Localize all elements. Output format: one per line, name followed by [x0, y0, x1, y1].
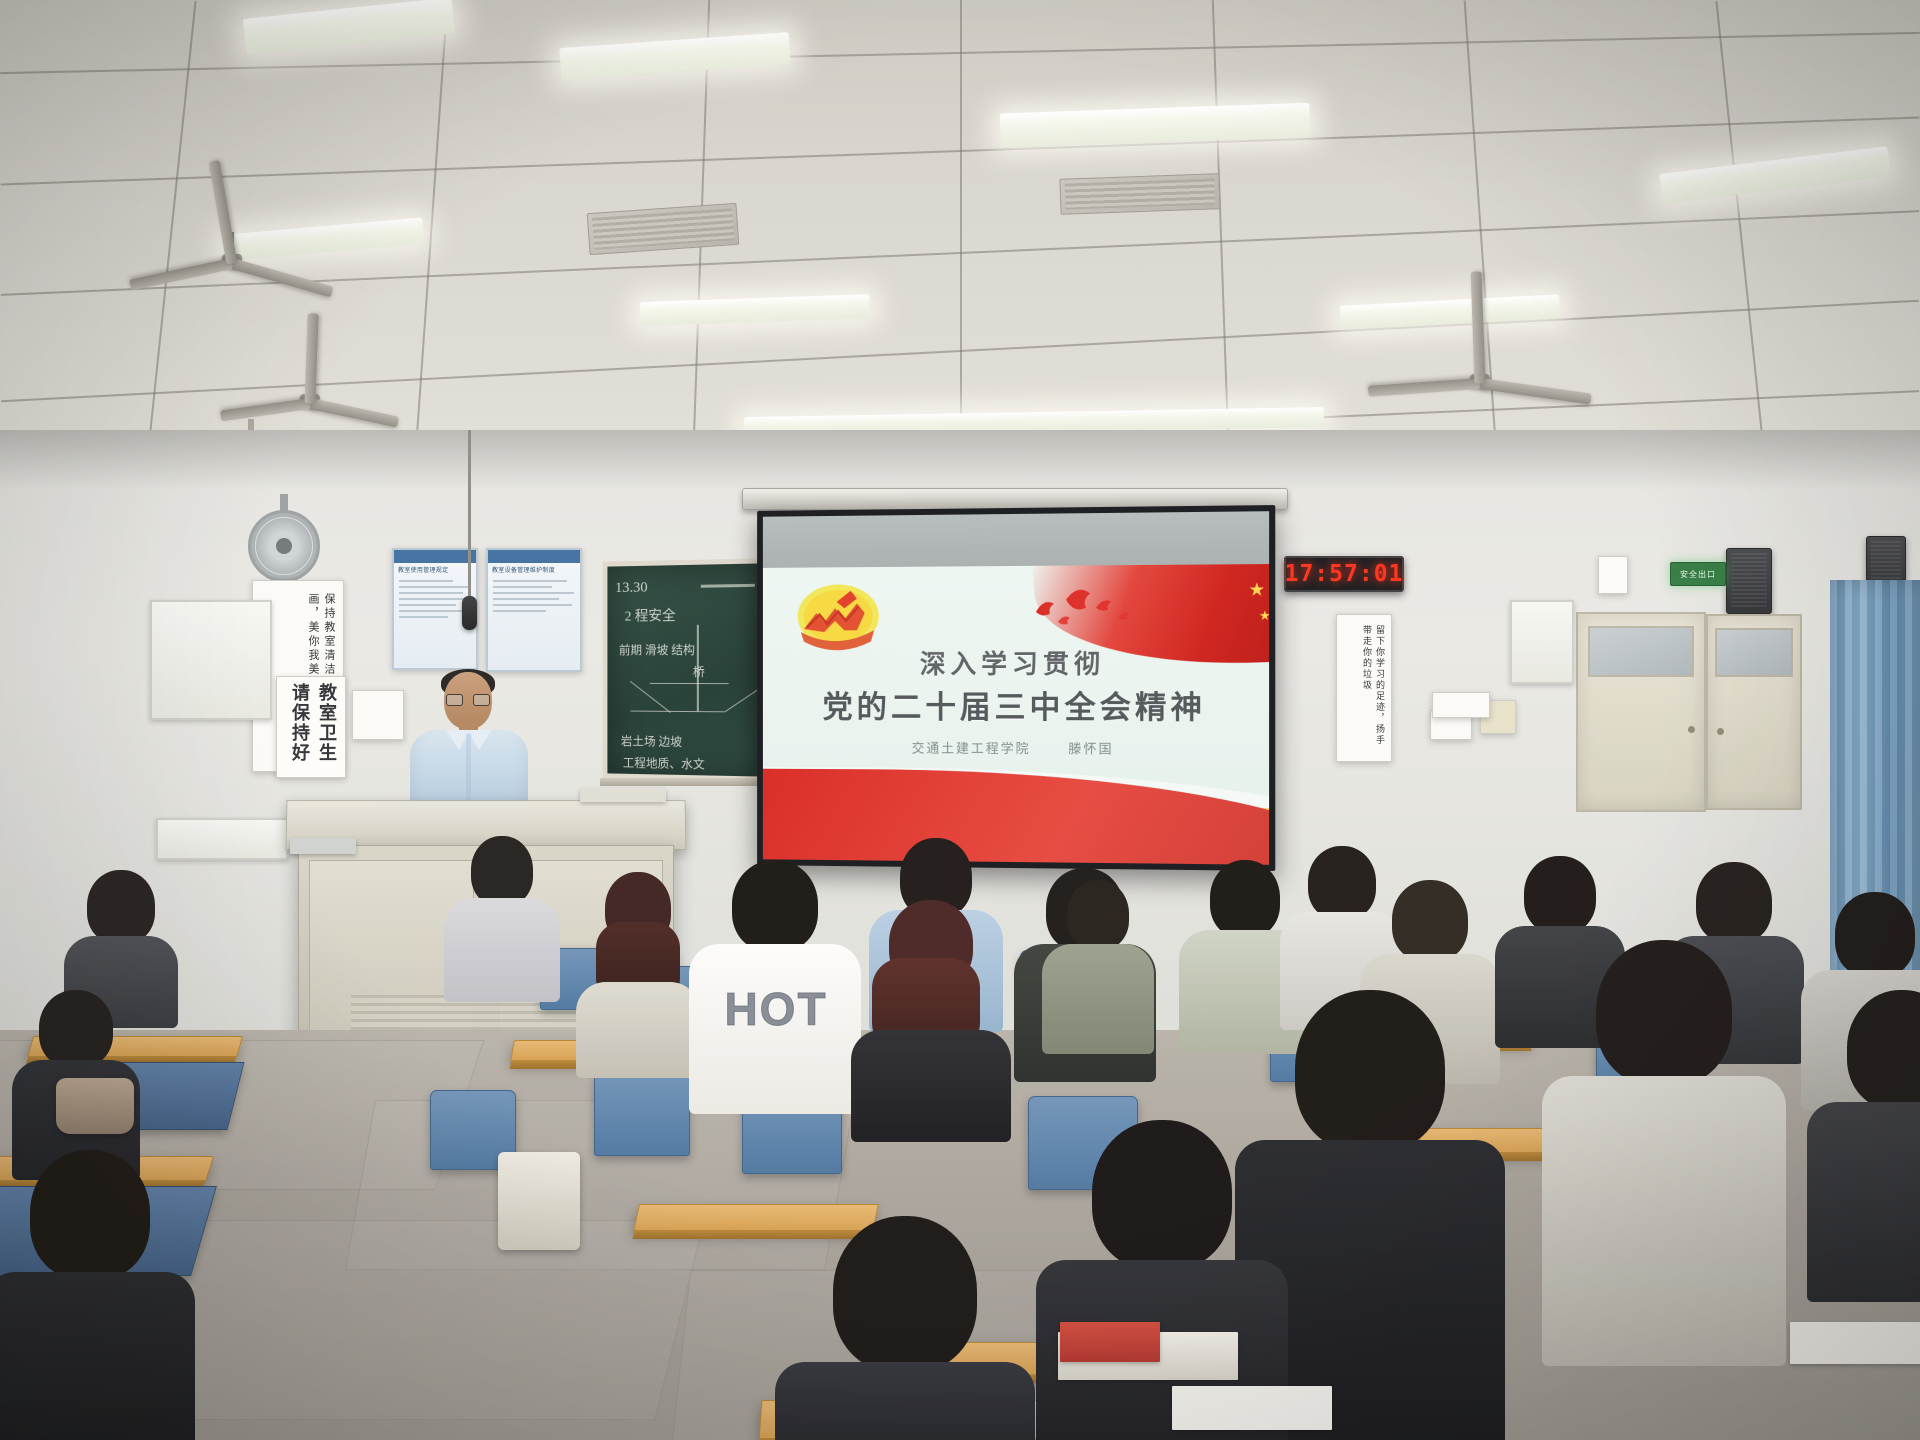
chalk-text: 2 程安全: [625, 605, 676, 625]
ceiling: [0, 0, 1920, 470]
wall-fan: [248, 510, 320, 582]
tshirt-graphic-text: HOT: [724, 982, 827, 1036]
book-on-desk: [1060, 1322, 1160, 1362]
podium-monitor: [290, 838, 356, 854]
blackboard: 13.30 2 程安全 前期 滑坡 结构 桥 岩土场 边坡 工程地质、水文: [603, 558, 770, 782]
air-vent: [1059, 173, 1220, 215]
poster-calligraphy-right: 留下你学习的足迹，扬手带走你的垃圾: [1336, 614, 1392, 762]
student-head: [1308, 846, 1376, 920]
student: [0, 1150, 180, 1440]
student: [1822, 990, 1920, 1290]
book-on-desk: [1790, 1322, 1920, 1364]
clock-time: 17:57:01: [1285, 561, 1404, 587]
student-head: [732, 860, 818, 952]
ceiling-light: [223, 217, 425, 260]
student-body: [851, 1030, 1011, 1142]
microphone-icon: [462, 596, 477, 630]
info-board-title: 教室使用管理规定: [394, 563, 476, 576]
student-body: [576, 982, 700, 1078]
chalk-text: 前期 滑坡 结构: [619, 641, 695, 658]
student-chair: [594, 1072, 690, 1156]
projection-screen: ★ ★ ★ ★ ★ 深入学习贯彻 党的二十届三中全会精神 交通土建工程学院 滕怀…: [757, 505, 1275, 871]
student: [450, 836, 554, 996]
info-board-equipment: 教室设备管理维护制度: [486, 548, 582, 672]
student-head: [1092, 1120, 1232, 1270]
student-head: [833, 1216, 977, 1372]
student-head: [39, 990, 113, 1068]
student: [858, 900, 1004, 1136]
student-head: [1295, 990, 1445, 1152]
student-body: [0, 1272, 195, 1440]
student: [584, 872, 692, 1062]
notice-line-2: 请保持好: [287, 683, 313, 763]
student-head: [1524, 856, 1596, 934]
flag-star: ★: [1249, 580, 1266, 598]
ceiling-light: [243, 0, 456, 55]
student-head: [1392, 880, 1468, 962]
student-head: [1696, 862, 1772, 944]
chalk-text: 工程地质、水文: [623, 754, 705, 772]
poster-white-small: [352, 690, 404, 740]
wall-speaker: [1726, 548, 1772, 614]
book-on-desk: [1172, 1386, 1332, 1430]
student-head: [1210, 860, 1280, 938]
exit-sign-label: 安全出口: [1680, 569, 1716, 580]
student-body: [1807, 1102, 1920, 1302]
ceiling-light: [559, 32, 791, 80]
classroom-scene: 教室使用管理规定 教室设备管理维护制度 保持教室清洁，不乱涂乱画，美你我美大家 …: [0, 0, 1920, 1440]
handbag: [498, 1152, 580, 1250]
chalk-tray: [600, 778, 770, 786]
poster-calligraphy-right-text: 留下你学习的足迹，扬手带走你的垃圾: [1361, 625, 1387, 751]
classroom-door[interactable]: [1576, 612, 1706, 812]
student: [1564, 940, 1764, 1360]
chalk-text: 13.30: [615, 580, 648, 597]
poster-notice-left: 教室卫生 请保持好: [276, 676, 346, 778]
student-head: [471, 836, 533, 906]
info-board-title: 教室设备管理维护制度: [488, 563, 580, 576]
slide-title-line-2: 党的二十届三中全会精神: [763, 682, 1269, 728]
slide-footer-graphic: [763, 753, 1269, 865]
presentation-slide: ★ ★ ★ ★ ★ 深入学习贯彻 党的二十届三中全会精神 交通土建工程学院 滕怀…: [763, 564, 1269, 865]
student: [1260, 990, 1480, 1440]
wall-ceiling-shadow: [0, 430, 1920, 490]
air-vent: [587, 203, 740, 255]
podium-equipment: [580, 788, 666, 802]
ceiling-light: [1659, 146, 1891, 204]
whiteboard-front-left: [156, 818, 288, 860]
student-body: [1542, 1076, 1786, 1366]
student-body: [775, 1362, 1035, 1440]
student-head: [1835, 892, 1915, 978]
screen-blank-band: [763, 511, 1269, 568]
microphone-stand: [468, 430, 471, 600]
wall-notice-right: [1598, 556, 1628, 594]
slide-title-line-1: 深入学习贯彻: [763, 643, 1269, 681]
student-body: [1042, 944, 1154, 1054]
glasses-icon: [446, 694, 490, 706]
student-head: [1847, 990, 1920, 1110]
student: [1046, 880, 1150, 1050]
backpack: [56, 1078, 134, 1134]
student-head: [87, 870, 155, 944]
notice-line-1: 教室卫生: [314, 683, 340, 763]
door-sign: [1432, 692, 1490, 718]
student: [800, 1216, 1010, 1440]
whiteboard-left: [150, 600, 272, 720]
led-wall-clock: 17:57:01: [1284, 556, 1404, 592]
flag-star: ★: [1259, 609, 1269, 622]
student-body: [444, 898, 560, 1002]
ceiling-light: [640, 294, 871, 326]
student-head: [1067, 880, 1129, 950]
chalk-text: 桥: [693, 663, 705, 680]
chalk-text: 岩土场 边坡: [621, 732, 682, 750]
student-head: [1596, 940, 1732, 1086]
wall-panel-right: [1510, 600, 1574, 684]
student-head: [30, 1150, 150, 1280]
classroom-door[interactable]: [1706, 614, 1802, 810]
exit-sign: 安全出口: [1670, 562, 1726, 586]
